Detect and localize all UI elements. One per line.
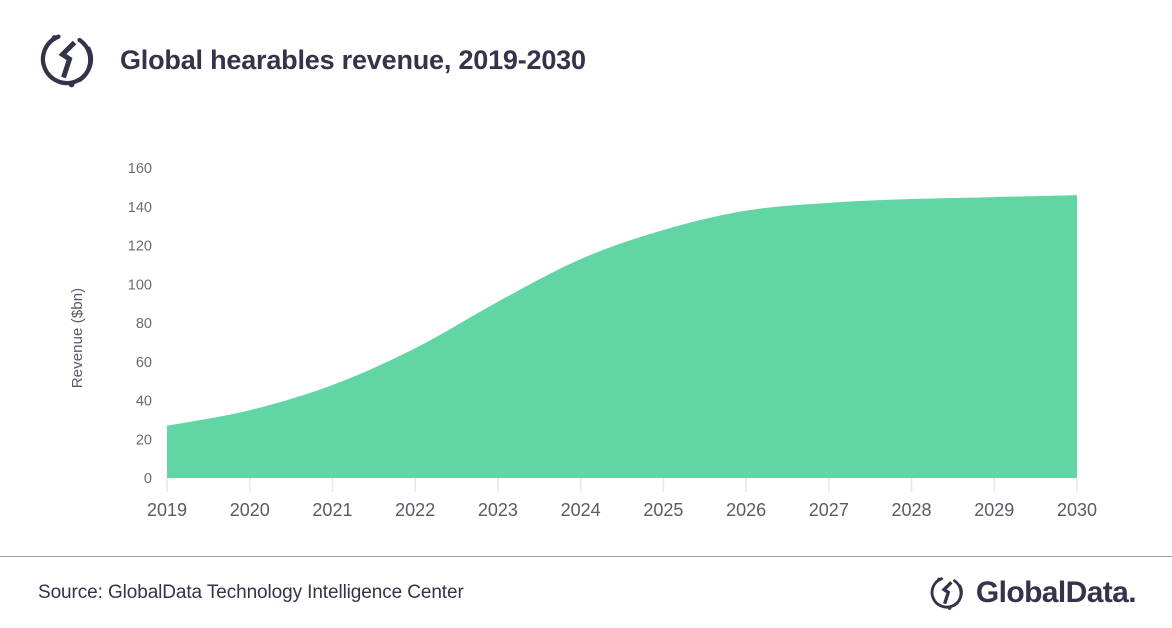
y-tick-label: 160 xyxy=(128,161,152,177)
globaldata-logo: GlobalData. xyxy=(929,574,1136,612)
page-title: Global hearables revenue, 2019-2030 xyxy=(120,45,586,76)
y-tick-label: 0 xyxy=(144,471,152,487)
y-tick-label: 40 xyxy=(136,394,152,410)
y-tick-label: 120 xyxy=(128,239,152,255)
chart-header: Global hearables revenue, 2019-2030 xyxy=(0,0,1172,120)
globaldata-wordmark: GlobalData. xyxy=(976,578,1136,608)
x-tick-label: 2028 xyxy=(892,500,932,520)
x-tick-label: 2025 xyxy=(643,500,683,520)
area-fill-revenue xyxy=(167,195,1077,478)
x-tick-label: 2022 xyxy=(395,500,435,520)
x-tick-label: 2023 xyxy=(478,500,518,520)
y-axis-tick-labels: 020406080100120140160 xyxy=(128,161,152,487)
x-tick-label: 2030 xyxy=(1057,500,1097,520)
x-tick-label: 2026 xyxy=(726,500,766,520)
x-axis-tick-labels: 2019202020212022202320242025202620272028… xyxy=(147,500,1097,520)
y-tick-label: 20 xyxy=(136,432,152,448)
x-axis-ticks xyxy=(167,478,1077,492)
source-text: Source: GlobalData Technology Intelligen… xyxy=(38,582,464,604)
y-tick-label: 80 xyxy=(136,316,152,332)
globaldata-circle-slash-icon xyxy=(38,29,100,91)
y-tick-label: 100 xyxy=(128,277,152,293)
x-tick-label: 2021 xyxy=(312,500,352,520)
globaldata-circle-slash-icon xyxy=(929,574,967,612)
x-tick-label: 2027 xyxy=(809,500,849,520)
y-tick-label: 140 xyxy=(128,200,152,216)
y-tick-label: 60 xyxy=(136,355,152,371)
x-tick-label: 2029 xyxy=(974,500,1014,520)
chart-footer: Source: GlobalData Technology Intelligen… xyxy=(0,557,1172,628)
x-tick-label: 2024 xyxy=(561,500,601,520)
x-tick-label: 2020 xyxy=(230,500,270,520)
chart-area: Revenue ($bn) 020406080100120140160 2019… xyxy=(0,120,1172,556)
revenue-area-chart: 020406080100120140160 201920202021202220… xyxy=(0,120,1172,556)
area-series-revenue xyxy=(167,195,1077,478)
x-tick-label: 2019 xyxy=(147,500,187,520)
